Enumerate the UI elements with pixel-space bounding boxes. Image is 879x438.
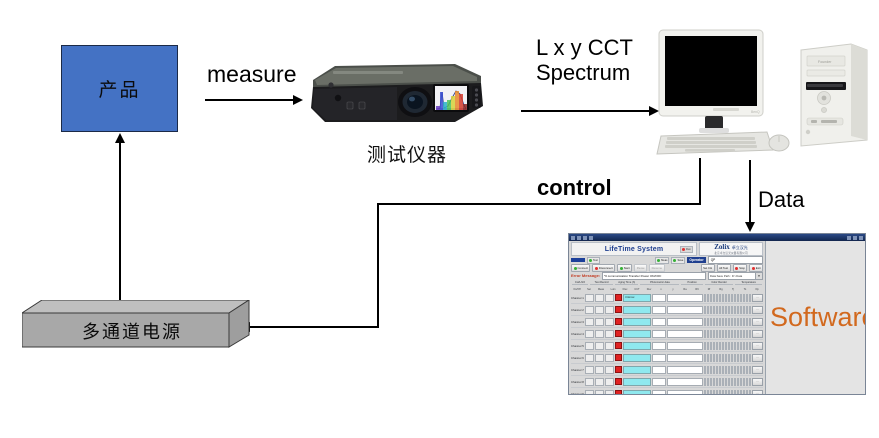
row-data-cell[interactable] (719, 342, 721, 350)
row-mini-field[interactable] (605, 390, 614, 396)
row-data-cell[interactable] (749, 390, 751, 396)
row-state-field[interactable] (623, 306, 651, 314)
row-aging-time-field[interactable] (652, 342, 666, 350)
row-data-cell[interactable] (722, 318, 724, 326)
row-mini-field[interactable] (595, 306, 604, 314)
row-data-cell[interactable] (710, 342, 712, 350)
group-header: Position (681, 281, 702, 285)
row-state-field[interactable] (623, 330, 651, 338)
measure-arrow-line (205, 99, 295, 101)
row-data-cell[interactable] (719, 330, 721, 338)
control-line-horizontal-bottom (250, 326, 379, 328)
row-channel-label: Channel 4 (571, 332, 584, 336)
row-data-cell[interactable] (716, 330, 718, 338)
row-wide-field[interactable] (667, 294, 703, 302)
row-data-cell[interactable] (725, 306, 727, 314)
row-detail-button[interactable]: ... (752, 330, 763, 338)
data-save-path-combo[interactable]: Data Save Path : D:\ Data ▼ (708, 272, 763, 280)
row-data-cell[interactable] (746, 306, 748, 314)
row-data-cell[interactable] (743, 378, 745, 386)
row-mini-field[interactable] (605, 342, 614, 350)
group-header: Aging Time (h) (615, 281, 638, 285)
software-error-row: Error Message: *0 communication Transfer… (569, 272, 765, 280)
row-data-cell[interactable] (710, 354, 712, 362)
table-row[interactable]: Channel 2... (571, 304, 763, 316)
row-detail-button[interactable]: ... (752, 318, 763, 326)
row-state-field[interactable] (623, 366, 651, 374)
control-label: control (537, 176, 612, 201)
svg-text:BenQ: BenQ (751, 110, 760, 114)
software-caption-pane: Software (766, 241, 866, 394)
row-data-cell[interactable] (746, 342, 748, 350)
row-mini-field[interactable] (605, 366, 614, 374)
row-data-cell[interactable] (716, 294, 718, 302)
row-data-cell[interactable] (707, 294, 709, 302)
row-data-cell[interactable] (722, 294, 724, 302)
row-data-cell[interactable] (749, 354, 751, 362)
power-to-product-line (119, 140, 121, 308)
row-detail-button[interactable]: ... (752, 390, 763, 396)
maximize-icon[interactable] (853, 236, 857, 240)
row-state-field[interactable] (623, 354, 651, 362)
row-data-cell[interactable] (707, 330, 709, 338)
row-data-cell[interactable] (737, 354, 739, 362)
row-aging-time-field[interactable] (652, 318, 666, 326)
row-data-cell[interactable] (725, 378, 727, 386)
instrument-node (305, 58, 491, 130)
computer-illustration: BenQ Founder (655, 28, 877, 160)
row-data-cell[interactable] (731, 390, 733, 396)
row-data-cell[interactable] (740, 378, 742, 386)
row-data-cell[interactable] (707, 342, 709, 350)
row-mini-field[interactable] (585, 390, 594, 396)
titlebar-icon-3 (583, 236, 587, 240)
row-wide-field[interactable] (667, 306, 703, 314)
row-aging-time-field[interactable] (652, 306, 666, 314)
brand-name: Zolix (714, 243, 730, 251)
minimize-icon[interactable] (847, 236, 851, 240)
row-data-cell[interactable] (707, 318, 709, 326)
column-header: Op (751, 288, 763, 291)
row-data-cell[interactable] (722, 306, 724, 314)
data-label: Data (758, 188, 804, 213)
row-mini-field[interactable] (585, 306, 594, 314)
row-mini-field[interactable] (585, 354, 594, 362)
row-data-cell[interactable] (704, 294, 706, 302)
row-data-cell[interactable] (740, 390, 742, 396)
row-data-cell[interactable] (740, 342, 742, 350)
row-aging-time-field[interactable] (652, 390, 666, 396)
row-data-cell[interactable] (716, 354, 718, 362)
software-titlebar[interactable] (569, 234, 865, 241)
row-mini-field[interactable] (585, 294, 594, 302)
close-icon[interactable] (859, 236, 863, 240)
row-data-cell[interactable] (728, 318, 730, 326)
row-data-cell[interactable] (722, 354, 724, 362)
row-wide-field[interactable] (667, 354, 703, 362)
row-data-cell[interactable] (740, 294, 742, 302)
row-data-cell[interactable] (746, 354, 748, 362)
row-aging-time-field[interactable] (652, 294, 666, 302)
row-data-cell[interactable] (740, 330, 742, 338)
row-detail-button[interactable]: ... (752, 342, 763, 350)
run-status-indicator: Run (680, 246, 693, 253)
row-data-cell[interactable] (713, 330, 715, 338)
row-data-cell[interactable] (719, 378, 721, 386)
row-data-cell[interactable] (722, 342, 724, 350)
column-header: Ts (739, 288, 751, 291)
row-detail-button[interactable]: ... (752, 294, 763, 302)
row-data-cell[interactable] (725, 390, 727, 396)
row-data-cell[interactable] (734, 354, 736, 362)
row-state-field[interactable] (623, 390, 651, 396)
row-channel-label: Channel 9 (571, 392, 584, 396)
run-status-text: Run (686, 248, 691, 251)
row-data-cell[interactable] (725, 330, 727, 338)
row-data-cell[interactable] (728, 330, 730, 338)
disconnect-button-led-icon (595, 267, 598, 270)
software-body: LifeTime System Run Zolix 卓立汉光 北京卓立汉光仪器有… (569, 241, 865, 394)
row-aging-time-field[interactable] (652, 354, 666, 362)
row-data-cell[interactable] (716, 342, 718, 350)
row-data-cell[interactable] (713, 306, 715, 314)
row-data-cell[interactable] (749, 306, 751, 314)
row-data-cell[interactable] (749, 294, 751, 302)
row-data-cell[interactable] (704, 354, 706, 362)
row-aging-time-field[interactable] (652, 366, 666, 374)
row-data-cell[interactable] (704, 306, 706, 314)
error-message-label: Error Message: (571, 273, 600, 278)
software-app-pane: LifeTime System Run Zolix 卓立汉光 北京卓立汉光仪器有… (569, 241, 766, 394)
operator-tag: Operator (687, 257, 705, 263)
row-data-cell[interactable] (719, 366, 721, 374)
row-data-cell[interactable] (734, 294, 736, 302)
data-save-path-value: Data Save Path : D:\ Data (710, 274, 742, 278)
row-data-cell[interactable] (716, 366, 718, 374)
toolbar-button-connect-label: Connect (578, 266, 588, 270)
row-state-field[interactable]: Unknow (623, 294, 651, 302)
row-data-cell[interactable] (722, 390, 724, 396)
row-data-cell[interactable] (722, 330, 724, 338)
group-header: Color Render (705, 281, 733, 285)
row-data-cell[interactable] (734, 378, 736, 386)
row-aging-time-field[interactable] (652, 378, 666, 386)
row-data-cell[interactable] (725, 294, 727, 302)
row-mini-field[interactable] (585, 330, 594, 338)
row-mini-field[interactable] (595, 294, 604, 302)
row-data-cell[interactable] (713, 294, 715, 302)
column-header: CCT (631, 288, 643, 291)
table-row[interactable]: Channel 6... (571, 352, 763, 364)
row-data-cell[interactable] (746, 366, 748, 374)
toolbar-button-connect[interactable]: Connect (571, 264, 590, 272)
row-data-cell[interactable] (740, 366, 742, 374)
stop-button-led-icon (735, 267, 738, 270)
table-row[interactable]: Channel 1Unknow... (571, 292, 763, 304)
data-line (749, 160, 751, 224)
table-row[interactable]: Channel 5... (571, 340, 763, 352)
row-wide-field[interactable] (667, 318, 703, 326)
row-data-cell[interactable] (746, 330, 748, 338)
row-data-cell[interactable] (734, 318, 736, 326)
row-data-cell[interactable] (737, 306, 739, 314)
row-data-cell[interactable] (710, 366, 712, 374)
row-data-cell[interactable] (716, 318, 718, 326)
row-data-cell[interactable] (719, 390, 721, 396)
data-arrow-head (745, 222, 755, 232)
operator-input[interactable]: QP (708, 256, 763, 264)
table-row[interactable]: Channel 3... (571, 316, 763, 328)
toolbar-button-exit-label: Exit (756, 266, 761, 270)
row-mini-field[interactable] (605, 354, 614, 362)
row-data-cell[interactable] (743, 318, 745, 326)
row-data-cell[interactable] (710, 330, 712, 338)
row-channel-label: Channel 2 (571, 308, 584, 312)
row-data-cell[interactable] (710, 306, 712, 314)
row-mini-field[interactable] (595, 354, 604, 362)
row-mini-field[interactable] (605, 306, 614, 314)
row-data-cell[interactable] (731, 294, 733, 302)
row-data-cell[interactable] (710, 378, 712, 386)
toolbar-button-set-ch-label: Set CH (703, 266, 712, 270)
row-data-cell[interactable] (728, 366, 730, 374)
row-data-cell[interactable] (749, 330, 751, 338)
row-status-led-icon (615, 342, 622, 349)
row-data-cell[interactable] (737, 390, 739, 396)
product-node: 产品 (61, 45, 178, 132)
row-mini-field[interactable] (605, 294, 614, 302)
row-mini-field[interactable] (595, 330, 604, 338)
toolbar-button-resume-label: Resume (652, 266, 662, 270)
row-detail-button[interactable]: ... (752, 306, 763, 314)
row-mini-field[interactable] (595, 342, 604, 350)
row-data-cell[interactable] (725, 318, 727, 326)
measure-arrow-head (293, 95, 303, 105)
row-data-cell[interactable] (734, 306, 736, 314)
row-data-cell[interactable] (734, 342, 736, 350)
row-wide-field[interactable] (667, 366, 703, 374)
column-header: Rf (703, 288, 715, 291)
row-data-cell[interactable] (734, 390, 736, 396)
row-data-cell[interactable] (719, 318, 721, 326)
row-data-cell[interactable] (704, 330, 706, 338)
titlebar-icon-1 (571, 236, 575, 240)
row-data-cell[interactable] (716, 390, 718, 396)
row-data-cell[interactable] (731, 342, 733, 350)
error-message-text: *0 communication Transfer Power ON/OFF (602, 272, 706, 280)
row-data-cell[interactable] (737, 294, 739, 302)
row-data-cell[interactable] (734, 366, 736, 374)
row-mini-field[interactable] (585, 318, 594, 326)
row-data-cell[interactable] (743, 306, 745, 314)
column-header: Ra (679, 288, 691, 291)
row-data-cell[interactable] (740, 318, 742, 326)
table-row[interactable]: Channel 8... (571, 376, 763, 388)
brand-logo: Zolix 卓立汉光 北京卓立汉光仪器有限公司 (699, 242, 763, 256)
row-data-cell[interactable] (704, 378, 706, 386)
table-row[interactable]: Channel 4... (571, 328, 763, 340)
progress-bar (571, 258, 585, 262)
results-line-1: L x y CCT (536, 35, 633, 60)
row-data-cell[interactable] (743, 354, 745, 362)
row-data-cell[interactable] (746, 390, 748, 396)
row-state-field[interactable] (623, 378, 651, 386)
status-pill-connect[interactable]: Test (587, 257, 600, 264)
row-data-cell[interactable] (704, 318, 706, 326)
row-data-cell[interactable] (707, 366, 709, 374)
row-data-cell[interactable] (713, 354, 715, 362)
row-data-cell[interactable] (707, 354, 709, 362)
column-header: x (655, 288, 667, 291)
software-app-title: LifeTime System (605, 246, 664, 253)
row-mini-field[interactable] (585, 378, 594, 386)
row-data-cell[interactable] (713, 366, 715, 374)
row-data-cell[interactable] (731, 330, 733, 338)
column-header: On/Off (571, 288, 583, 291)
row-detail-button[interactable]: ... (752, 378, 763, 386)
row-data-cell[interactable] (716, 378, 718, 386)
row-data-cell[interactable] (743, 294, 745, 302)
row-mini-field[interactable] (585, 342, 594, 350)
row-data-cell[interactable] (725, 366, 727, 374)
row-data-cell[interactable] (704, 390, 706, 396)
column-header: Flux (619, 288, 631, 291)
row-status-led-icon (615, 354, 622, 361)
status-pill-save[interactable]: Save (671, 257, 685, 264)
row-data-cell[interactable] (746, 318, 748, 326)
table-row[interactable]: Channel 7... (571, 364, 763, 376)
row-data-cell[interactable] (719, 294, 721, 302)
row-data-cell[interactable] (725, 342, 727, 350)
row-data-cell[interactable] (707, 306, 709, 314)
row-data-cell[interactable] (731, 354, 733, 362)
row-mini-field[interactable] (605, 378, 614, 386)
row-data-cell[interactable] (740, 306, 742, 314)
row-mini-field[interactable] (595, 366, 604, 374)
row-data-cell[interactable] (710, 390, 712, 396)
software-window[interactable]: LifeTime System Run Zolix 卓立汉光 北京卓立汉光仪器有… (568, 233, 866, 395)
row-state-field[interactable] (623, 318, 651, 326)
group-header: Test Record (590, 281, 613, 285)
row-data-cell[interactable] (737, 342, 739, 350)
control-line-vertical-left (377, 203, 379, 328)
status-pill-meas[interactable]: Meas (655, 257, 669, 264)
row-data-cell[interactable] (743, 366, 745, 374)
software-status-row: Test Meas Save Operator QP (569, 256, 765, 264)
row-status-led-icon (615, 330, 622, 337)
row-data-cell[interactable] (713, 318, 715, 326)
row-state-field[interactable] (623, 342, 651, 350)
row-mini-field[interactable] (595, 390, 604, 396)
row-data-cell[interactable] (728, 294, 730, 302)
row-data-cell[interactable] (734, 330, 736, 338)
row-data-cell[interactable] (707, 378, 709, 386)
toolbar-button-disconnect-label: Disconnect (599, 266, 613, 270)
row-detail-button[interactable]: ... (752, 354, 763, 362)
row-data-cell[interactable] (707, 390, 709, 396)
measure-label: measure (207, 62, 296, 88)
row-data-cell[interactable] (749, 366, 751, 374)
row-data-cell[interactable] (743, 342, 745, 350)
column-header: Tj (727, 288, 739, 291)
row-wide-field[interactable] (667, 378, 703, 386)
row-data-cell[interactable] (704, 342, 706, 350)
group-header: Photometric data (640, 281, 679, 285)
row-data-cell[interactable] (713, 342, 715, 350)
status-pill-connect-label: Test (593, 259, 598, 262)
row-data-cell[interactable] (731, 366, 733, 374)
row-data-cell[interactable] (704, 366, 706, 374)
row-data-cell[interactable] (737, 366, 739, 374)
row-data-cell[interactable] (728, 342, 730, 350)
row-data-cell[interactable] (737, 330, 739, 338)
start-button-led-icon (620, 267, 623, 270)
row-wide-field[interactable] (667, 390, 703, 396)
row-data-cell[interactable] (731, 378, 733, 386)
row-data-cell[interactable] (713, 378, 715, 386)
row-mini-field[interactable] (605, 318, 614, 326)
row-data-cell[interactable] (743, 390, 745, 396)
row-data-cell[interactable] (731, 306, 733, 314)
row-data-cell[interactable] (728, 390, 730, 396)
row-mini-field[interactable] (595, 378, 604, 386)
row-channel-label: Channel 3 (571, 320, 584, 324)
chevron-down-icon: ▼ (755, 273, 762, 279)
row-data-cell[interactable] (731, 318, 733, 326)
results-label: L x y CCTSpectrum (536, 36, 633, 85)
row-data-cell[interactable] (743, 330, 745, 338)
toolbar-button-pause-label: Pause (637, 266, 645, 270)
row-mini-field[interactable] (605, 330, 614, 338)
table-row[interactable]: Channel 9... (571, 388, 763, 395)
row-aging-time-field[interactable] (652, 330, 666, 338)
row-data-cell[interactable] (746, 294, 748, 302)
row-data-cell[interactable] (716, 306, 718, 314)
software-title-band: LifeTime System Run (571, 242, 697, 256)
row-wide-field[interactable] (667, 330, 703, 338)
row-wide-field[interactable] (667, 342, 703, 350)
row-detail-button[interactable]: ... (752, 366, 763, 374)
row-data-cell[interactable] (749, 378, 751, 386)
row-data-cell[interactable] (728, 378, 730, 386)
row-data-cell[interactable] (719, 306, 721, 314)
connect-led-icon (589, 259, 592, 262)
row-data-cell[interactable] (713, 390, 715, 396)
row-data-cell[interactable] (710, 318, 712, 326)
power-supply-illustration (22, 300, 250, 350)
row-data-cell[interactable] (728, 306, 730, 314)
row-data-cell[interactable] (737, 378, 739, 386)
row-data-cell[interactable] (740, 354, 742, 362)
row-data-cell[interactable] (749, 318, 751, 326)
row-channel-label: Channel 1 (571, 296, 584, 300)
row-data-cell[interactable] (722, 366, 724, 374)
row-status-led-icon (615, 390, 622, 395)
row-mini-field[interactable] (585, 366, 594, 374)
row-data-cell[interactable] (719, 354, 721, 362)
row-mini-field[interactable] (595, 318, 604, 326)
row-data-cell[interactable] (749, 342, 751, 350)
row-data-cell[interactable] (725, 354, 727, 362)
row-data-cell[interactable] (737, 318, 739, 326)
row-data-cell[interactable] (710, 294, 712, 302)
software-caption: Software (770, 302, 866, 333)
row-data-cell[interactable] (722, 378, 724, 386)
software-data-rows: Channel 1Unknow...Channel 2...Channel 3.… (569, 292, 765, 395)
row-data-cell[interactable] (728, 354, 730, 362)
instrument-label: 测试仪器 (367, 140, 447, 167)
row-data-cell[interactable] (746, 378, 748, 386)
